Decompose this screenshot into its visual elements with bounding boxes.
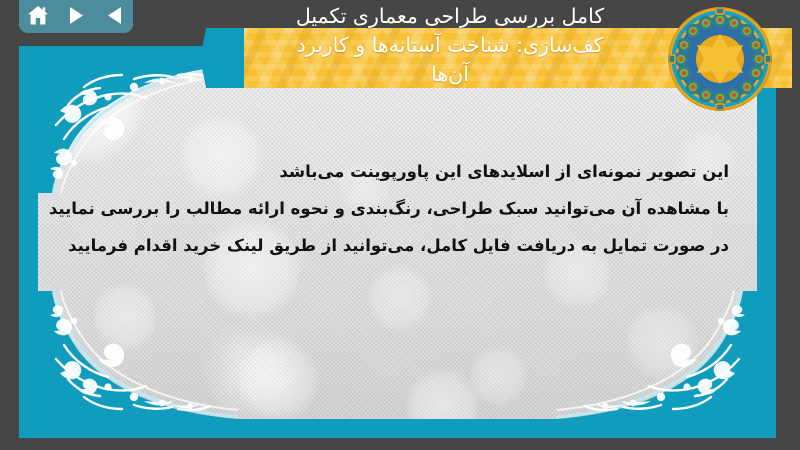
home-button[interactable] xyxy=(24,2,52,28)
body-line-3: در صورت تمایل به دریافت فایل کامل، می‌تو… xyxy=(66,227,729,264)
home-icon xyxy=(27,5,49,26)
triangle-right-icon xyxy=(69,6,84,25)
slide-frame: این تصویر نمونه‌ای از اسلایدهای این پاور… xyxy=(19,46,776,438)
triangle-left-icon xyxy=(106,6,123,25)
ornamental-medallion xyxy=(668,7,772,111)
previous-slide-button[interactable] xyxy=(100,2,128,28)
slide-body-text: این تصویر نمونه‌ای از اسلایدهای این پاور… xyxy=(66,153,729,264)
title-line-2: کف‌سازی: شناخت آستانه‌ها و کاربرد xyxy=(230,31,670,60)
body-line-2: با مشاهده آن می‌توانید سبک طراحی، رنگ‌بن… xyxy=(66,190,729,227)
arabesque-corner-bottom-left xyxy=(38,291,238,419)
arabesque-corner-bottom-right xyxy=(557,291,757,419)
body-line-1: این تصویر نمونه‌ای از اسلایدهای این پاور… xyxy=(66,153,729,190)
next-slide-button[interactable] xyxy=(62,2,90,28)
slide-navigation-bar xyxy=(19,0,133,33)
title-line-1: کامل بررسی طراحی معماری تکمیل xyxy=(230,2,670,31)
slide-viewer: این تصویر نمونه‌ای از اسلایدهای این پاور… xyxy=(0,0,800,450)
slide-canvas: این تصویر نمونه‌ای از اسلایدهای این پاور… xyxy=(38,65,757,419)
slide-title: کامل بررسی طراحی معماری تکمیل کف‌سازی: ش… xyxy=(230,2,670,89)
title-line-3: آن‌ها xyxy=(230,60,670,89)
